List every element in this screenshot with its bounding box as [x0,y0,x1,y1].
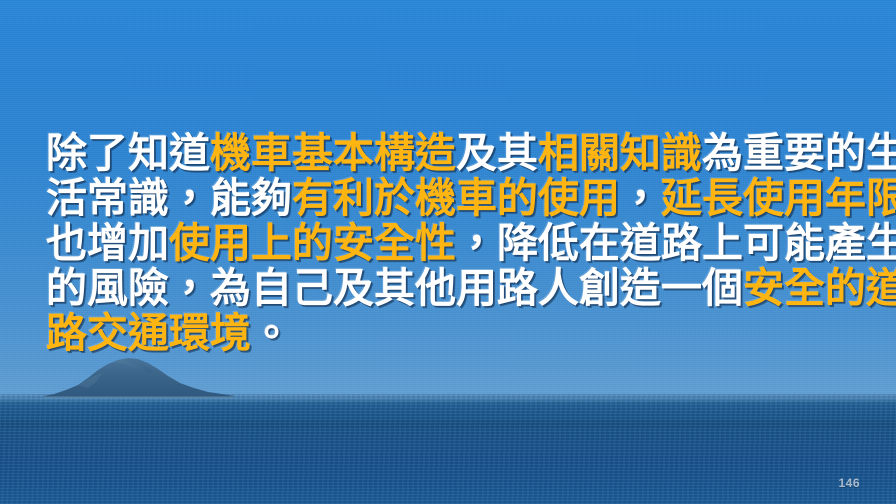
highlighted-text-segment: 機車基本構造 [210,130,456,176]
highlighted-text-segment: 有利於機車的使用 [292,175,620,221]
highlighted-text-segment: 路交通環境 [46,310,251,356]
highlighted-text-segment: 延長使用年限 [661,175,896,221]
text-line: 的風險，為自己及其他用路人創造一個安全的道 [46,266,858,311]
highlighted-text-segment: 使用上的安全性 [169,220,456,266]
text-line: 也增加使用上的安全性，降低在道路上可能產生 [46,221,858,266]
text-segment: 活常識，能夠 [46,175,292,221]
text-line: 除了知道機車基本構造及其相關知識為重要的生 [46,131,858,176]
text-segment: 及其 [456,130,538,176]
text-line: 路交通環境。 [46,311,858,356]
text-segment: 除了知道 [46,130,210,176]
highlighted-text-segment: 相關知識 [538,130,702,176]
text-line: 活常識，能夠有利於機車的使用，延長使用年限， [46,176,858,221]
sea-background [0,394,896,504]
highlighted-text-segment: 安全的道 [743,265,896,311]
text-segment: ， [620,175,661,221]
slide-body-text: 除了知道機車基本構造及其相關知識為重要的生活常識，能夠有利於機車的使用，延長使用… [46,131,858,356]
text-segment: 的風險，為自己及其他用路人創造一個 [46,265,743,311]
slide-canvas: 除了知道機車基本構造及其相關知識為重要的生活常識，能夠有利於機車的使用，延長使用… [0,0,896,504]
text-segment: 為重要的生 [702,130,896,176]
text-segment: 。 [251,310,292,356]
island-shape [44,356,234,398]
text-segment: ，降低在道路上可能產生 [456,220,896,266]
text-segment: 也增加 [46,220,169,266]
island-silhouette [44,356,234,398]
page-number: 146 [838,476,860,490]
